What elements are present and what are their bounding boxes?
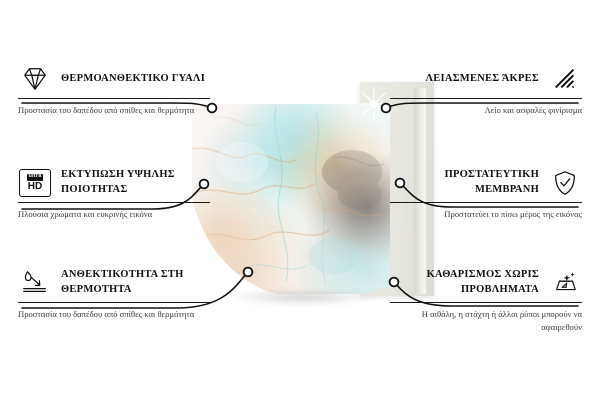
feature-heat-resistance: ΑΝΘΕΚΤΙΚΟΤΗΤΑ ΣΤΗ ΘΕΡΜΟΤΗΤΑ Προστασία το… xyxy=(18,268,210,321)
feature-protective-membrane-header: ΠΡΟΣΤΑΤΕΥΤΙΚΗ ΜΕΜΒΡΑΝΗ xyxy=(390,168,582,198)
product-drop-shadow xyxy=(198,284,408,310)
feature-polished-edges-header: ΛΕΙΑΣΜΕΝΕΣ ΆΚΡΕΣ xyxy=(390,64,582,94)
feature-heat-resistance-header: ΑΝΘΕΚΤΙΚΟΤΗΤΑ ΣΤΗ ΘΕΡΜΟΤΗΤΑ xyxy=(18,268,210,298)
feature-heat-glass-header: ΘΕΡΜΟΑΝΘΕΚΤΙΚΟ ΓΥΑΛΙ xyxy=(18,64,210,94)
feature-easy-cleaning-description: Η αιθάλη, η στάχτη ή άλλοι ρύποι μπορούν… xyxy=(390,308,582,335)
feature-heat-glass-description: Προστασία του δαπέδου από σπίθες και θερ… xyxy=(18,104,210,117)
feature-protective-membrane-title: ΠΡΟΣΤΑΤΕΥΤΙΚΗ ΜΕΜΒΡΑΝΗ xyxy=(390,168,539,198)
feature-heat-glass-title: ΘΕΡΜΟΑΝΘΕΚΤΙΚΟ ΓΥΑΛΙ xyxy=(61,72,205,87)
diamond-icon xyxy=(18,64,52,94)
feature-heat-resistance-description: Προστασία του δαπέδου από σπίθες και θερ… xyxy=(18,308,210,321)
feature-print-quality-description: Πλούσια χρώματα και ευκρινής εικόνα xyxy=(18,208,210,221)
feature-print-quality-header: ultra HD ΕΚΤΥΠΩΣΗ ΥΨΗΛΗΣ ΠΟΙΟΤΗΤΑΣ xyxy=(18,168,210,198)
ultra-hd-badge: ultra HD xyxy=(19,169,51,197)
feature-polished-edges: ΛΕΙΑΣΜΕΝΕΣ ΆΚΡΕΣ Λείο και ασφαλές φινίρι… xyxy=(390,64,582,117)
feature-print-quality-rule xyxy=(18,202,210,203)
flame-deflect-icon xyxy=(18,268,52,298)
sponge-sparkle-icon xyxy=(548,268,582,298)
feature-polished-edges-description: Λείο και ασφαλές φινίρισμα xyxy=(390,104,582,117)
product-feature-infographic: ΘΕΡΜΟΑΝΘΕΚΤΙΚΟ ΓΥΑΛΙ Προστασία του δαπέδ… xyxy=(0,0,600,400)
feature-polished-edges-title: ΛΕΙΑΣΜΕΝΕΣ ΆΚΡΕΣ xyxy=(425,72,539,87)
shield-check-icon xyxy=(548,168,582,198)
sparkle-highlight-icon xyxy=(357,87,391,121)
feature-polished-edges-rule xyxy=(390,98,582,99)
feature-heat-glass-rule xyxy=(18,98,210,99)
feature-protective-membrane: ΠΡΟΣΤΑΤΕΥΤΙΚΗ ΜΕΜΒΡΑΝΗ Προστατεύει το πί… xyxy=(390,168,582,221)
feature-heat-resistance-rule xyxy=(18,302,210,303)
feature-heat-glass: ΘΕΡΜΟΑΝΘΕΚΤΙΚΟ ΓΥΑΛΙ Προστασία του δαπέδ… xyxy=(18,64,210,117)
ultra-hd-badge-small-label: ultra xyxy=(27,174,43,181)
feature-easy-cleaning-header: ΚΑΘΑΡΙΣΜΟΣ ΧΩΡΙΣ ΠΡΟΒΛΗΜΑΤΑ xyxy=(390,268,582,298)
feature-easy-cleaning-rule xyxy=(390,302,582,303)
feature-print-quality-title: ΕΚΤΥΠΩΣΗ ΥΨΗΛΗΣ ΠΟΙΟΤΗΤΑΣ xyxy=(61,168,210,198)
polished-edge-icon xyxy=(548,64,582,94)
marble-vein-overlay xyxy=(184,98,398,294)
feature-protective-membrane-rule xyxy=(390,202,582,203)
feature-easy-cleaning-title: ΚΑΘΑΡΙΣΜΟΣ ΧΩΡΙΣ ΠΡΟΒΛΗΜΑΤΑ xyxy=(390,268,539,298)
feature-heat-resistance-title: ΑΝΘΕΚΤΙΚΟΤΗΤΑ ΣΤΗ ΘΕΡΜΟΤΗΤΑ xyxy=(61,268,210,298)
feature-protective-membrane-description: Προστατεύει το πίσω μέρος της εικόνας xyxy=(390,208,582,221)
feature-easy-cleaning: ΚΑΘΑΡΙΣΜΟΣ ΧΩΡΙΣ ΠΡΟΒΛΗΜΑΤΑ Η αιθάλη, η … xyxy=(390,268,582,335)
ultra-hd-badge-large-label: HD xyxy=(28,182,42,192)
feature-print-quality: ultra HD ΕΚΤΥΠΩΣΗ ΥΨΗΛΗΣ ΠΟΙΟΤΗΤΑΣ Πλούσ… xyxy=(18,168,210,221)
ultra-hd-icon: ultra HD xyxy=(18,168,52,198)
